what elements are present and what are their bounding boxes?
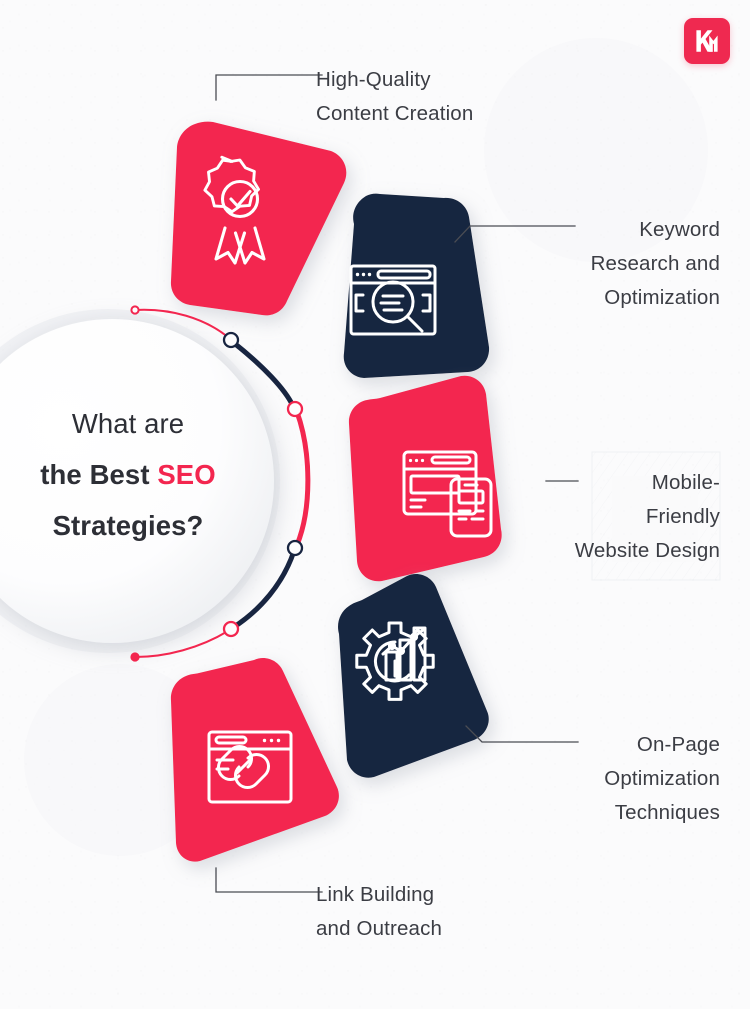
km-monogram-icon [693,27,721,55]
label-line: High-Quality [316,63,526,97]
leader-link-building [216,868,322,892]
arc-node-1 [224,333,238,347]
segment-link-building[interactable] [171,658,339,862]
brand-logo[interactable] [684,18,730,64]
label-link-building: Link Building and Outreach [316,878,526,946]
label-line: Keyword [476,213,720,247]
label-on-page-optimization: On-Page Optimization Techniques [476,728,720,831]
title-line-2-pre: the Best [40,459,157,490]
leader-content-creation [216,75,322,100]
label-content-creation: High-Quality Content Creation [316,63,526,131]
segment-mobile-friendly[interactable] [349,376,502,582]
label-line: Link Building [316,878,526,912]
arc-node-2 [288,402,302,416]
label-line: Techniques [476,796,720,830]
label-line: On-Page [476,728,720,762]
title-line-3: Strategies? [8,500,248,551]
title-accent-seo: SEO [157,459,215,490]
label-line: Website Design [496,534,720,568]
label-line: Friendly [496,500,720,534]
label-line: Mobile- [496,466,720,500]
arc-node-3 [288,541,302,555]
segment-content-creation[interactable] [171,122,346,316]
label-line: Research and [476,247,720,281]
title-line-1: What are [8,398,248,449]
title-line-2: the Best SEO [8,449,248,500]
label-line: Optimization [476,281,720,315]
segment-on-page-optimization[interactable] [338,574,489,778]
label-line: Content Creation [316,97,526,131]
segment-keyword-research[interactable] [344,194,489,378]
label-line: and Outreach [316,912,526,946]
page-title: What are the Best SEO Strategies? [8,398,248,551]
arc-node-4 [224,622,238,636]
label-mobile-friendly: Mobile- Friendly Website Design [496,466,720,569]
label-keyword-research: Keyword Research and Optimization [476,213,720,316]
label-line: Optimization [476,762,720,796]
